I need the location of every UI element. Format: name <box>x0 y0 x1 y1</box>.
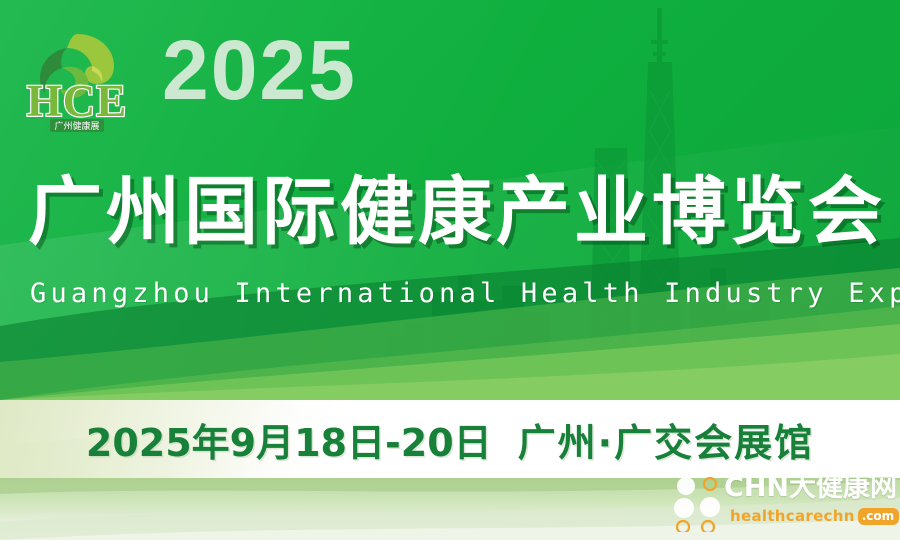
logo-sub-label: 广州健康展 <box>50 119 104 132</box>
watermark-brand: CHN大健康网 <box>724 474 897 502</box>
info-bar: 2025年9月18日-20日 广州·广交会展馆 <box>0 400 900 478</box>
event-banner: HCE 广州健康展 2025 广州国际健康产业博览会 Guangzhou Int… <box>0 0 900 540</box>
svg-text:HCE: HCE <box>27 76 128 126</box>
hce-logo[interactable]: HCE 广州健康展 <box>22 24 132 134</box>
page-title-english: Guangzhou International Health Industry … <box>30 280 886 307</box>
svg-text:广州健康展: 广州健康展 <box>54 120 99 132</box>
page-title-chinese: 广州国际健康产业博览会 <box>28 175 888 249</box>
event-venue: 广州·广交会展馆 <box>518 412 814 467</box>
watermark-text-group: CHN大健康网 healthcarechn .com <box>724 474 900 534</box>
event-date: 2025年9月18日-20日 <box>86 412 492 467</box>
year-label: 2025 <box>162 28 357 112</box>
hce-wordmark: HCE <box>27 76 128 126</box>
banner-stage: HCE 广州健康展 2025 广州国际健康产业博览会 Guangzhou Int… <box>0 0 900 400</box>
watermark-url: healthcarechn .com <box>730 507 899 525</box>
watermark-tld: .com <box>858 508 899 525</box>
site-watermark[interactable]: CHN大健康网 healthcarechn .com <box>672 470 900 536</box>
info-bar-text: 2025年9月18日-20日 广州·广交会展馆 <box>0 400 900 478</box>
watermark-domain: healthcarechn <box>730 507 855 525</box>
